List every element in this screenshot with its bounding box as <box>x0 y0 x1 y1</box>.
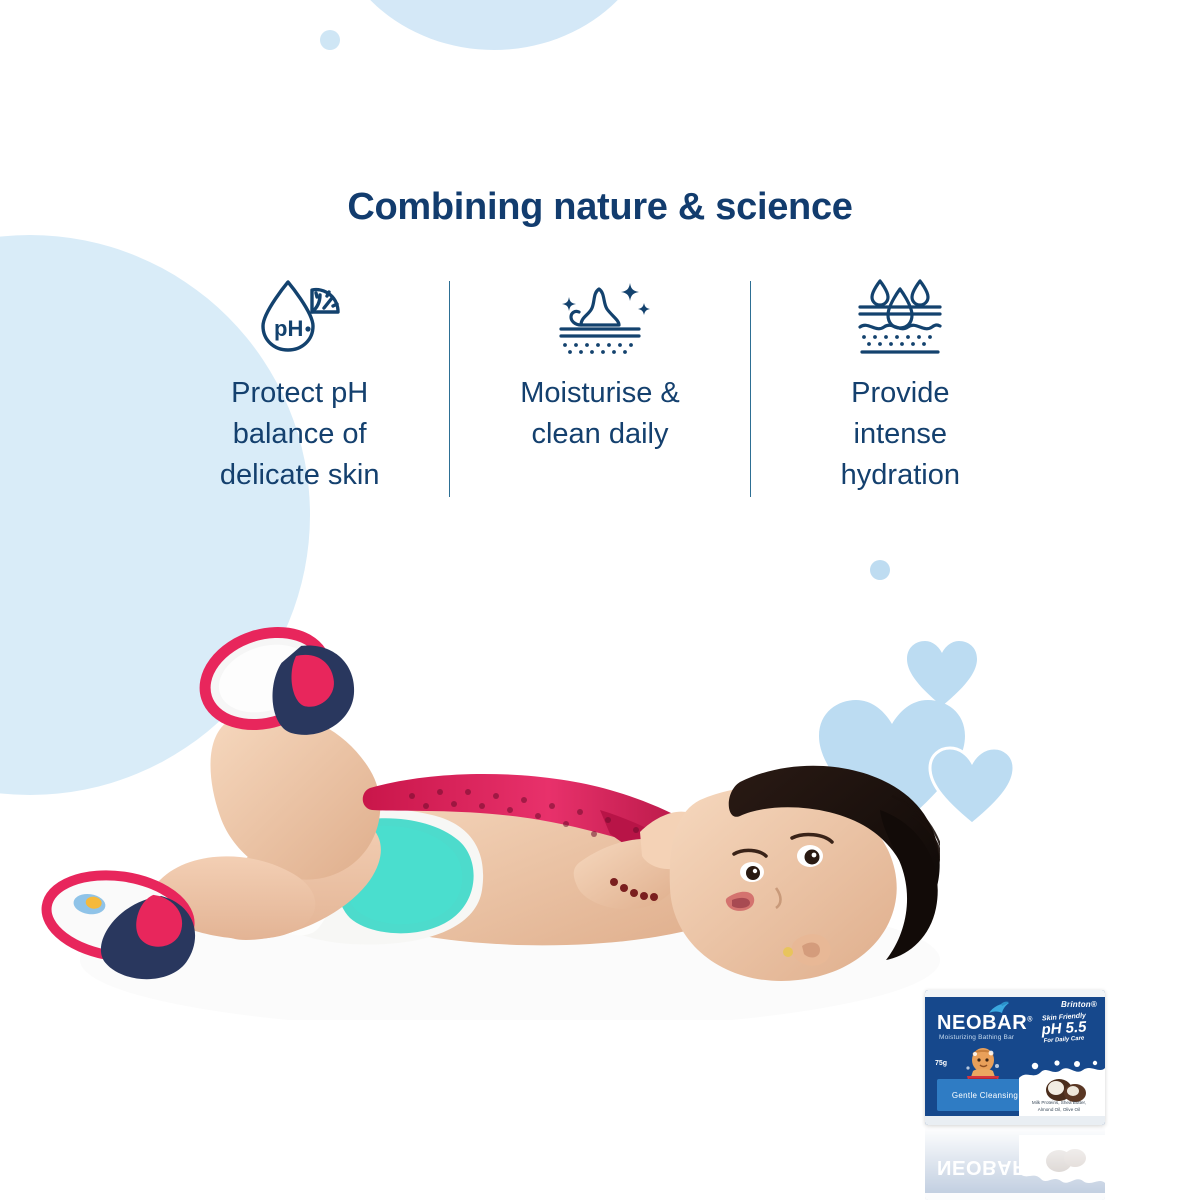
features-row: pH Protect pH balance of delicate skin <box>150 275 1050 497</box>
cream-on-skin-sparkle-icon <box>545 275 655 355</box>
heart-medium-icon <box>928 746 1016 826</box>
box-top-edge <box>925 990 1105 997</box>
feature-label-moisturise: Moisturise & clean daily <box>520 373 680 455</box>
product-name: NEOBAR® <box>937 1012 1033 1035</box>
product-ingredients: Milk Proteins, Shea Butter, Almond Oil, … <box>1019 1100 1099 1114</box>
product-package[interactable]: Brinton® NEOBAR® Moisturizing Bathing Ba… <box>925 990 1105 1125</box>
ph-claim-block: Skin Friendly pH 5.5 For Daily Care <box>1031 1014 1097 1043</box>
reflection-product-name: NEOBAR <box>937 1155 1027 1178</box>
product-reflection: NEOBAR pH 5.5 <box>925 1126 1105 1200</box>
product-tagline: Moisturizing Bathing Bar <box>939 1034 1014 1041</box>
decorative-circle-top <box>328 0 660 50</box>
brand-name: Brinton® <box>1061 1000 1097 1009</box>
reflection-milk-splash <box>1019 1135 1105 1191</box>
feature-moisturise: Moisturise & clean daily <box>450 275 749 455</box>
page-title: Combining nature & science <box>0 186 1200 229</box>
feature-label-protect-ph: Protect pH balance of delicate skin <box>220 373 380 497</box>
baby-lying-down-photo <box>40 600 940 1020</box>
promo-banner: Combining nature & science pH <box>0 0 1200 1200</box>
svg-text:pH: pH <box>274 316 303 341</box>
feature-label-hydration: Provide intense hydration <box>841 373 960 497</box>
box-bottom-edge <box>925 1116 1105 1125</box>
heart-small-top-icon <box>905 640 979 708</box>
feature-hydration: Provide intense hydration <box>751 275 1050 497</box>
dot-top-left-icon <box>320 30 340 50</box>
dot-right-icon <box>870 560 890 580</box>
water-drops-skin-layers-icon <box>850 275 950 355</box>
ph-droplet-gauge-icon: pH <box>254 275 346 355</box>
product-weight: 75g <box>935 1060 947 1067</box>
feature-protect-ph: pH Protect pH balance of delicate skin <box>150 275 449 497</box>
heart-large-icon <box>816 698 968 834</box>
reflection-top-edge <box>925 1193 1105 1200</box>
